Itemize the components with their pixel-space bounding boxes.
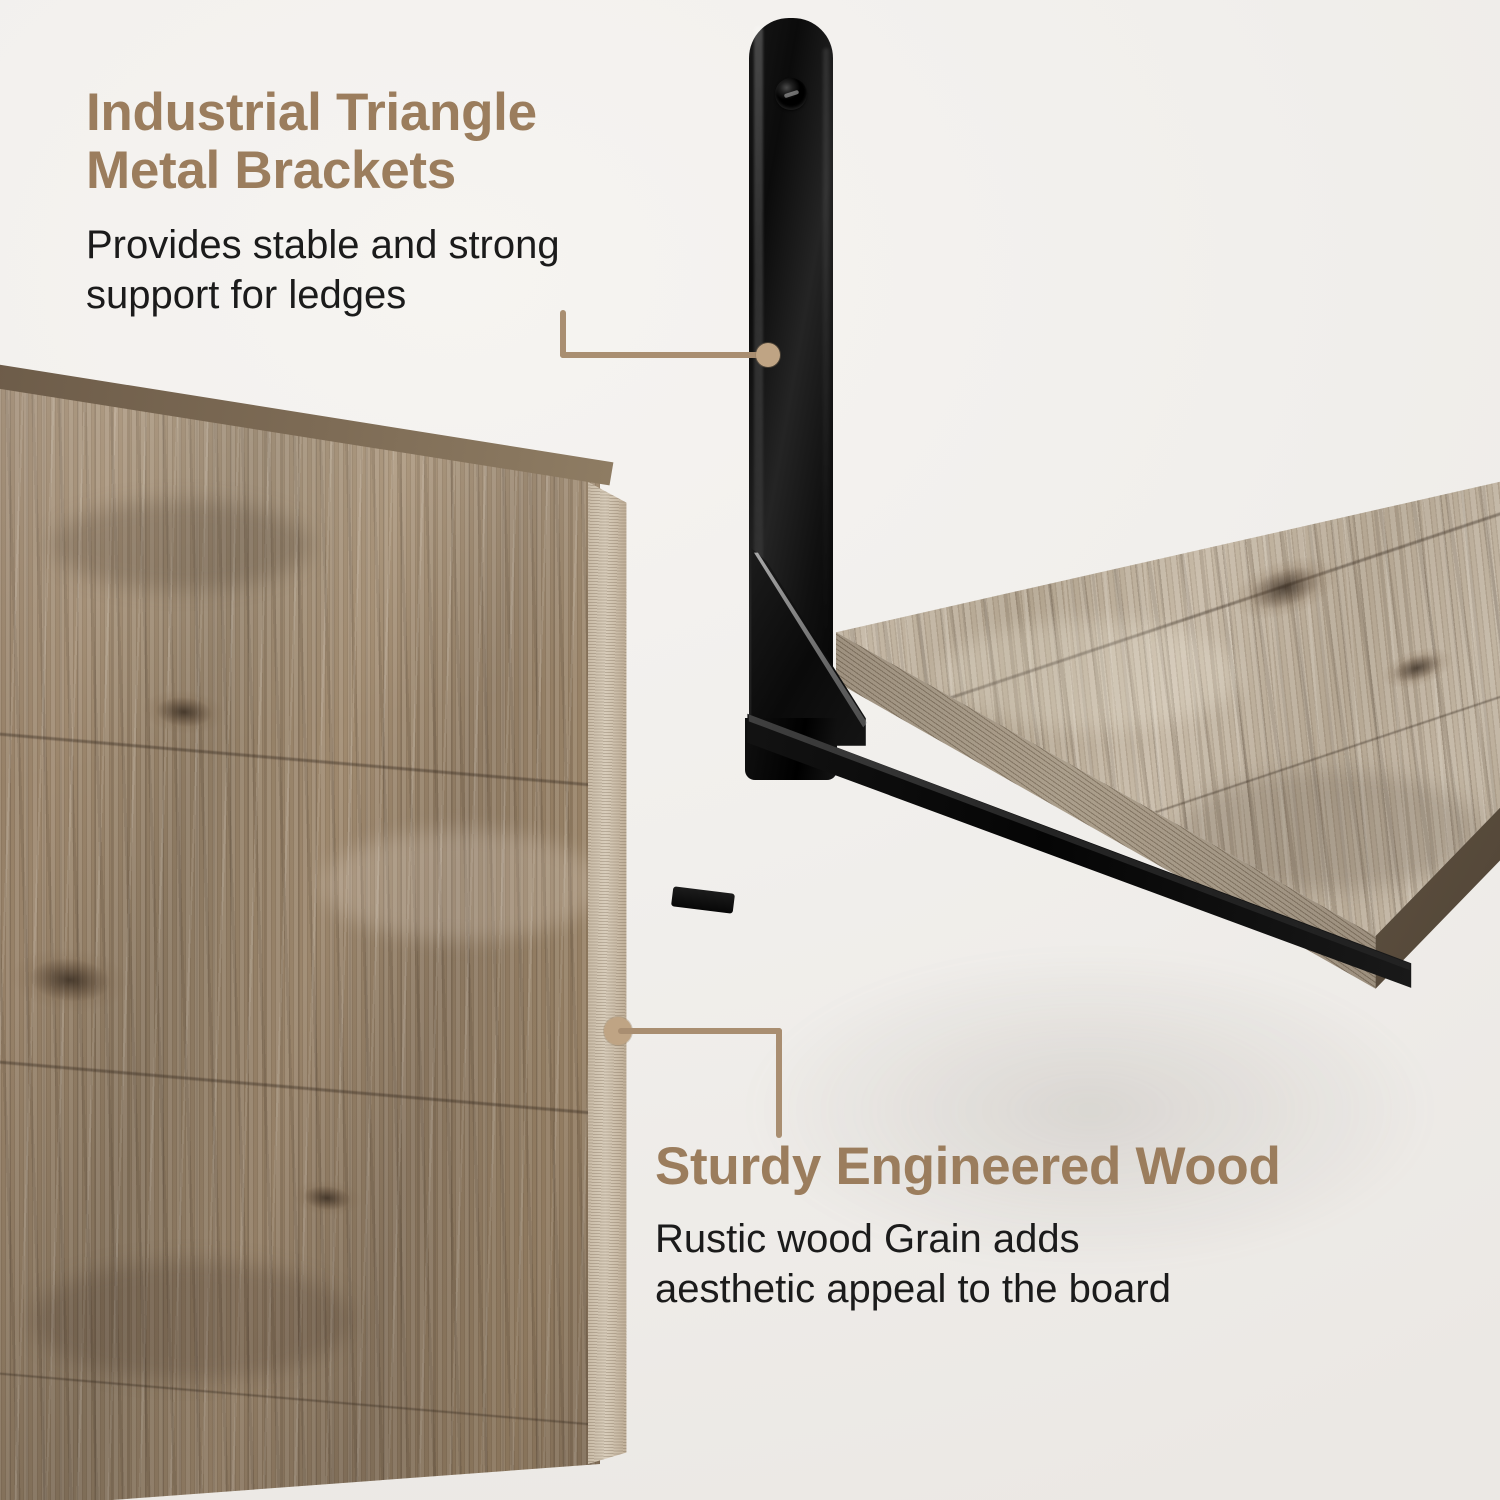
leader-line-wood (604, 1012, 784, 1144)
leader-line-brackets (560, 310, 800, 380)
leader-dot (756, 343, 780, 367)
bracket-highlight (823, 48, 829, 668)
wood-blotch (940, 620, 1240, 730)
mounting-screw-icon (775, 78, 807, 110)
wood-blotch (52, 500, 312, 590)
callout-brackets-headline: Industrial Triangle Metal Brackets (86, 84, 560, 200)
leader-segment-horizontal (618, 1028, 782, 1034)
callout-brackets: Industrial Triangle Metal Brackets Provi… (86, 84, 560, 320)
wood-board-face (0, 360, 632, 1500)
callout-wood: Sturdy Engineered Wood Rustic wood Grain… (655, 1138, 1281, 1315)
callout-brackets-subtext: Provides stable and strong support for l… (86, 220, 560, 321)
wood-blotch (32, 1260, 352, 1380)
screw-slot (784, 90, 800, 98)
infographic-canvas: Industrial Triangle Metal Brackets Provi… (0, 0, 1500, 1500)
leader-segment-vertical (560, 310, 566, 358)
wood-blotch (322, 830, 602, 940)
wood-board-right-edge (588, 360, 650, 1500)
callout-wood-headline: Sturdy Engineered Wood (655, 1138, 1281, 1196)
callout-wood-subtext: Rustic wood Grain adds aesthetic appeal … (655, 1214, 1281, 1315)
metal-bracket (735, 18, 975, 978)
vertical-wood-board (0, 360, 652, 1500)
leader-segment-horizontal (560, 352, 772, 358)
leader-segment-vertical (776, 1028, 782, 1138)
